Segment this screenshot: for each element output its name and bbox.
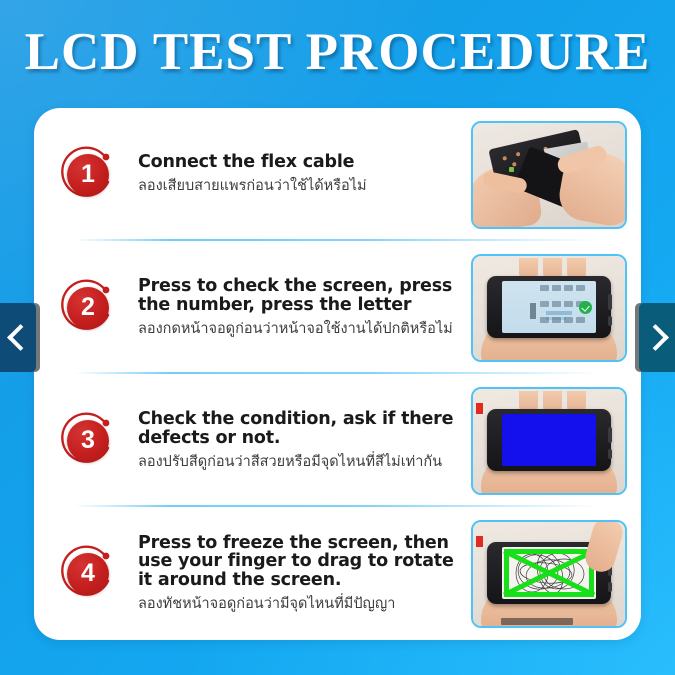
photo-phone-touch-drag-test bbox=[471, 520, 627, 628]
page-title: LCD TEST PROCEDURE bbox=[0, 22, 675, 82]
chevron-left-icon bbox=[7, 324, 34, 351]
prev-arrow-button[interactable] bbox=[0, 303, 36, 372]
photo-phone-keypad-test bbox=[471, 254, 627, 362]
step-text-block-2: Press to check the screen, press the num… bbox=[132, 277, 471, 338]
step-badge-1: 1 bbox=[56, 144, 118, 206]
step-subtitle-4: ลองทัชหน้าจอดูก่อนว่ามีจุดไหนที่มีปัญญา bbox=[138, 595, 463, 613]
step-badge-2: 2 bbox=[56, 277, 118, 339]
step-row-2: 2 Press to check the screen, press the n… bbox=[34, 241, 641, 374]
badge-number: 2 bbox=[81, 295, 95, 320]
badge-number: 3 bbox=[81, 428, 95, 453]
badge-number: 4 bbox=[81, 561, 95, 586]
step-heading-2: Press to check the screen, press the num… bbox=[138, 277, 463, 315]
badge-circle: 1 bbox=[67, 154, 109, 196]
step-badge-4: 4 bbox=[56, 543, 118, 605]
green-check-icon bbox=[579, 301, 592, 314]
step-heading-1: Connect the flex cable bbox=[138, 153, 463, 172]
badge-number: 1 bbox=[81, 162, 95, 187]
step-subtitle-3: ลองปรับสีดูก่อนว่าสีสวยหรือมีจุดไหนที่สี… bbox=[138, 453, 463, 471]
step-subtitle-1: ลองเสียบสายแพรก่อนว่าใช้ได้หรือไม่ bbox=[138, 177, 463, 195]
steps-card: 1 Connect the flex cable ลองเสียบสายแพรก… bbox=[34, 108, 641, 640]
step-heading-3: Check the condition, ask if there defect… bbox=[138, 410, 463, 448]
chevron-right-icon bbox=[642, 324, 669, 351]
step-row-4: 4 Press to freeze the screen, then use y… bbox=[34, 507, 641, 640]
step-badge-3: 3 bbox=[56, 410, 118, 472]
step-text-block-1: Connect the flex cable ลองเสียบสายแพรก่อ… bbox=[132, 153, 471, 195]
badge-circle: 4 bbox=[67, 553, 109, 595]
step-text-block-4: Press to freeze the screen, then use you… bbox=[132, 534, 471, 614]
step-row-1: 1 Connect the flex cable ลองเสียบสายแพรก… bbox=[34, 108, 641, 241]
photo-phone-blue-screen-test bbox=[471, 387, 627, 495]
photo-flex-cable-connection bbox=[471, 121, 627, 229]
badge-circle: 3 bbox=[67, 420, 109, 462]
step-subtitle-2: ลองกดหน้าจอดูก่อนว่าหน้าจอใช้งานได้ปกติห… bbox=[138, 320, 463, 338]
badge-circle: 2 bbox=[67, 287, 109, 329]
next-arrow-button[interactable] bbox=[639, 303, 675, 372]
step-row-3: 3 Check the condition, ask if there defe… bbox=[34, 374, 641, 507]
step-heading-4: Press to freeze the screen, then use you… bbox=[138, 534, 463, 591]
step-text-block-3: Check the condition, ask if there defect… bbox=[132, 410, 471, 471]
